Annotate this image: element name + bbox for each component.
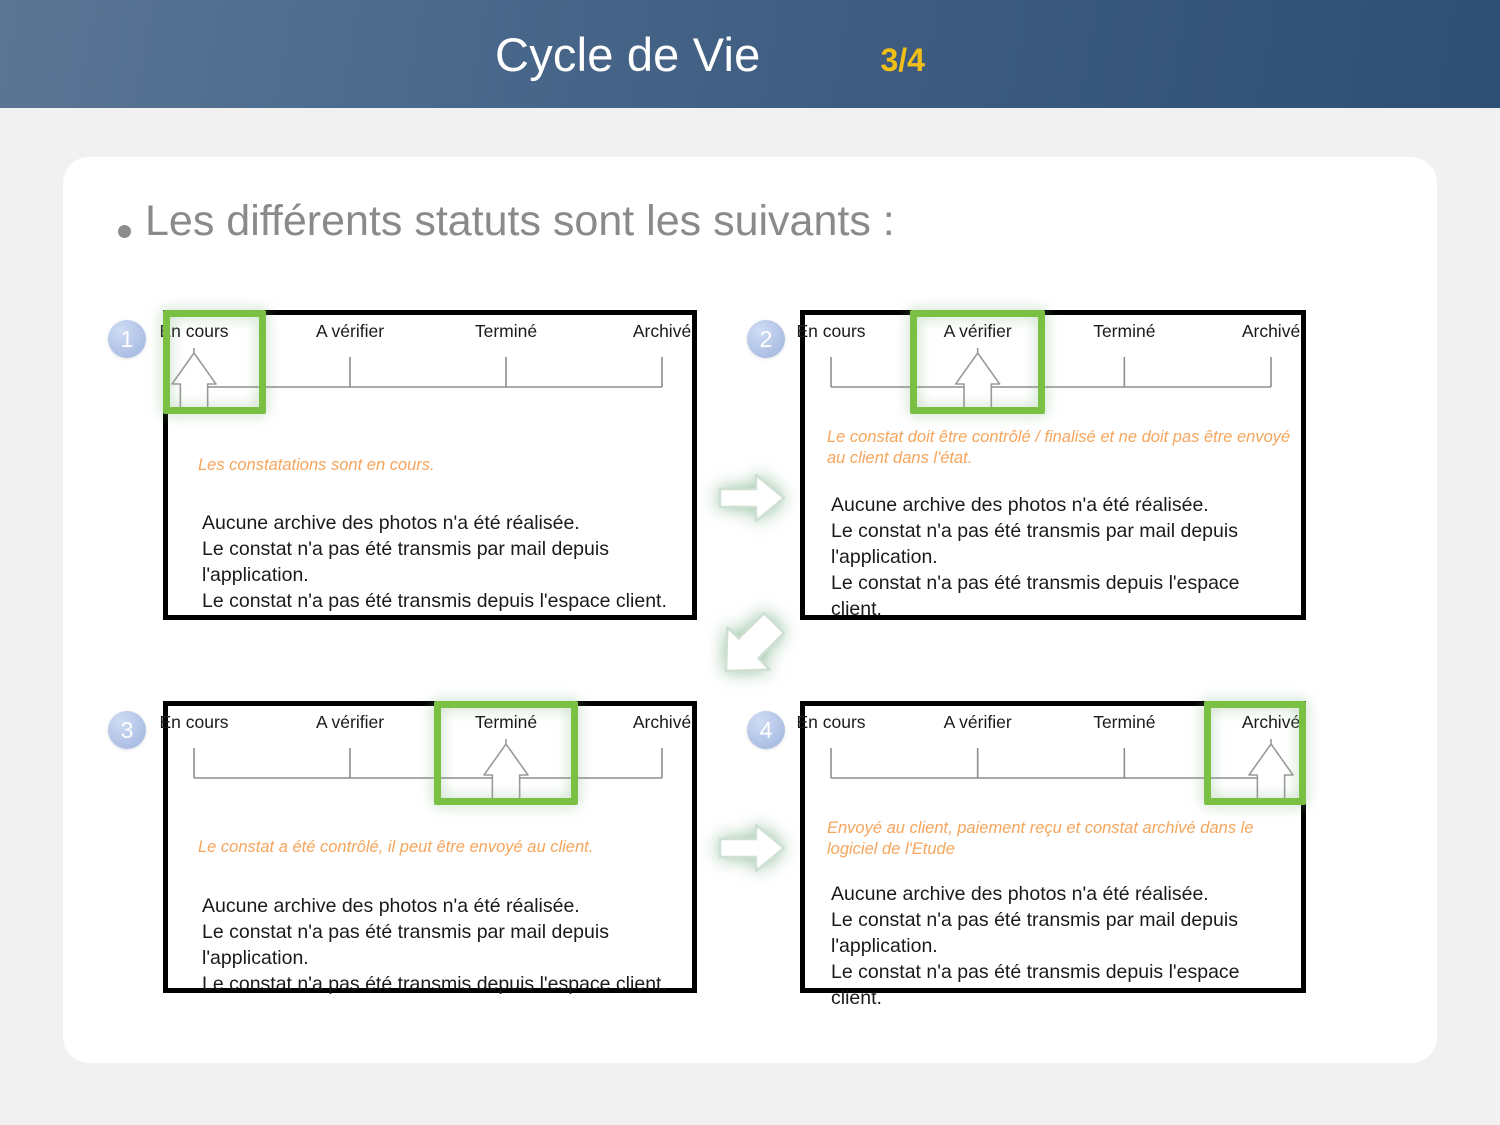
status-details-3: Aucune archive des photos n'a été réalis… [202, 894, 686, 998]
content-card: Les différents statuts sont les suivants… [63, 157, 1437, 1063]
active-status-highlight-a-vérifier [910, 310, 1045, 414]
status-panel-3: En coursA vérifierTerminéArchivéLe const… [163, 701, 697, 993]
status-detail-line: Le constat n'a pas été transmis depuis l… [202, 972, 686, 998]
status-detail-line: l'application. [831, 545, 1295, 571]
arrow-2-to-3 [708, 605, 792, 689]
timeline-label-4-panel-1[interactable]: Archivé [633, 321, 691, 342]
active-status-highlight-archivé [1204, 701, 1306, 805]
panel-number-badge-4: 4 [747, 711, 785, 749]
status-panel-1: En coursA vérifierTerminéArchivéLes cons… [163, 310, 697, 620]
timeline-label-3-panel-1[interactable]: Terminé [475, 321, 537, 342]
status-note-3: Le constat a été contrôlé, il peut être … [198, 837, 678, 858]
status-details-1: Aucune archive des photos n'a été réalis… [202, 511, 686, 615]
bullet-dot-icon [118, 225, 131, 238]
status-panel-4: En coursA vérifierTerminéArchivéEnvoyé a… [800, 701, 1306, 993]
status-detail-line: Aucune archive des photos n'a été réalis… [831, 493, 1295, 519]
status-detail-line: l'application. [202, 563, 686, 589]
arrow-1-to-2 [714, 467, 790, 529]
timeline-label-2-panel-3[interactable]: A vérifier [316, 712, 384, 733]
status-timeline-3[interactable]: En coursA vérifierTerminéArchivé [168, 706, 692, 802]
timeline-label-1-panel-4[interactable]: En cours [796, 712, 865, 733]
panel-number-badge-2: 2 [747, 320, 785, 358]
timeline-label-2-panel-4[interactable]: A vérifier [944, 712, 1012, 733]
timeline-label-1-panel-2[interactable]: En cours [796, 321, 865, 342]
bullet-heading-label: Les différents statuts sont les suivants… [145, 197, 895, 245]
panel-number-badge-3: 3 [108, 711, 146, 749]
timeline-label-2-panel-1[interactable]: A vérifier [316, 321, 384, 342]
status-detail-line: l'application. [202, 946, 686, 972]
arrow-3-to-4 [714, 817, 790, 879]
timeline-label-1-panel-3[interactable]: En cours [159, 712, 228, 733]
timeline-graphic-panel-2 [805, 347, 1301, 411]
status-details-4: Aucune archive des photos n'a été réalis… [831, 882, 1295, 1012]
timeline-label-3-panel-4[interactable]: Terminé [1093, 712, 1155, 733]
status-detail-line: Le constat n'a pas été transmis depuis l… [831, 960, 1295, 1012]
status-note-4: Envoyé au client, paiement reçu et const… [827, 818, 1297, 860]
status-detail-line: Le constat n'a pas été transmis par mail… [202, 920, 686, 946]
status-detail-line: Le constat n'a pas été transmis par mail… [202, 537, 686, 563]
status-details-2: Aucune archive des photos n'a été réalis… [831, 493, 1295, 623]
status-detail-line: Le constat n'a pas été transmis depuis l… [202, 589, 686, 615]
status-detail-line: Aucune archive des photos n'a été réalis… [202, 894, 686, 920]
bullet-heading: Les différents statuts sont les suivants… [118, 197, 895, 245]
status-detail-line: Le constat n'a pas été transmis par mail… [831, 908, 1295, 934]
status-note-1: Les constatations sont en cours. [198, 455, 678, 476]
status-panel-2: En coursA vérifierTerminéArchivéLe const… [800, 310, 1306, 620]
panel-number-badge-1: 1 [108, 320, 146, 358]
status-detail-line: Aucune archive des photos n'a été réalis… [202, 511, 686, 537]
timeline-label-4-panel-2[interactable]: Archivé [1242, 321, 1300, 342]
status-timeline-2[interactable]: En coursA vérifierTerminéArchivé [805, 315, 1301, 411]
active-status-highlight-en-cours [163, 310, 266, 414]
status-detail-line: Le constat n'a pas été transmis depuis l… [831, 571, 1295, 623]
status-detail-line: Le constat n'a pas été transmis par mail… [831, 519, 1295, 545]
timeline-label-3-panel-2[interactable]: Terminé [1093, 321, 1155, 342]
status-detail-line: l'application. [831, 934, 1295, 960]
slide-counter-badge: 3/4 [880, 42, 924, 79]
page-title: Cycle de Vie [495, 27, 760, 82]
timeline-label-4-panel-3[interactable]: Archivé [633, 712, 691, 733]
active-status-highlight-terminé [434, 701, 578, 805]
status-note-2: Le constat doit être contrôlé / finalisé… [827, 427, 1297, 469]
timeline-graphic-panel-3 [168, 738, 692, 802]
slide-header: Cycle de Vie 3/4 [0, 0, 1500, 108]
status-detail-line: Aucune archive des photos n'a été réalis… [831, 882, 1295, 908]
